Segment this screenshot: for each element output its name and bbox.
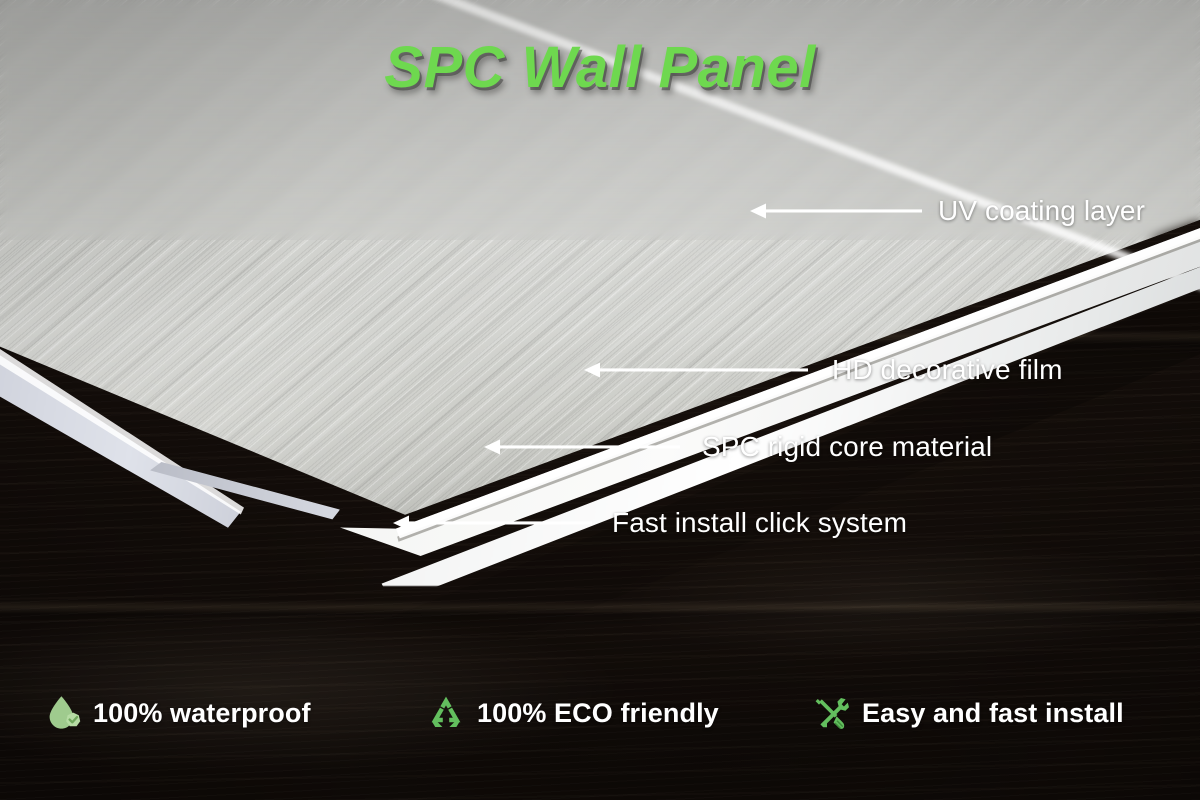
left-arrow-icon <box>387 511 594 535</box>
left-arrow-icon <box>478 435 682 459</box>
feature-label: 100% ECO friendly <box>477 698 719 729</box>
wrench-screwdriver-icon <box>811 693 851 733</box>
feature-label: 100% waterproof <box>93 698 311 729</box>
feature-waterproof: 100% waterproof <box>42 686 426 740</box>
left-arrow-icon <box>578 358 810 382</box>
feature-eco-friendly: 100% ECO friendly <box>426 686 811 740</box>
callout-fast-install-click-system: Fast install click system <box>387 506 907 540</box>
infographic-canvas: SPC Wall Panel UV coating layer HD decor… <box>0 0 1200 800</box>
feature-label: Easy and fast install <box>862 698 1124 729</box>
feature-row: 100% waterproof 100% ECO friendly <box>42 686 1172 740</box>
callout-label: UV coating layer <box>938 195 1145 227</box>
page-title: SPC Wall Panel <box>0 34 1200 101</box>
callout-hd-decorative-film: HD decorative film <box>578 353 1063 387</box>
feature-easy-install: Easy and fast install <box>811 686 1172 740</box>
recycle-icon <box>426 693 466 733</box>
left-arrow-icon <box>744 199 924 223</box>
callout-label: HD decorative film <box>832 354 1063 386</box>
callout-spc-rigid-core-material: SPC rigid core material <box>478 430 992 464</box>
callout-label: Fast install click system <box>612 507 907 539</box>
callout-label: SPC rigid core material <box>702 431 992 463</box>
water-droplet-check-icon <box>42 693 82 733</box>
callout-uv-coating-layer: UV coating layer <box>744 194 1145 228</box>
